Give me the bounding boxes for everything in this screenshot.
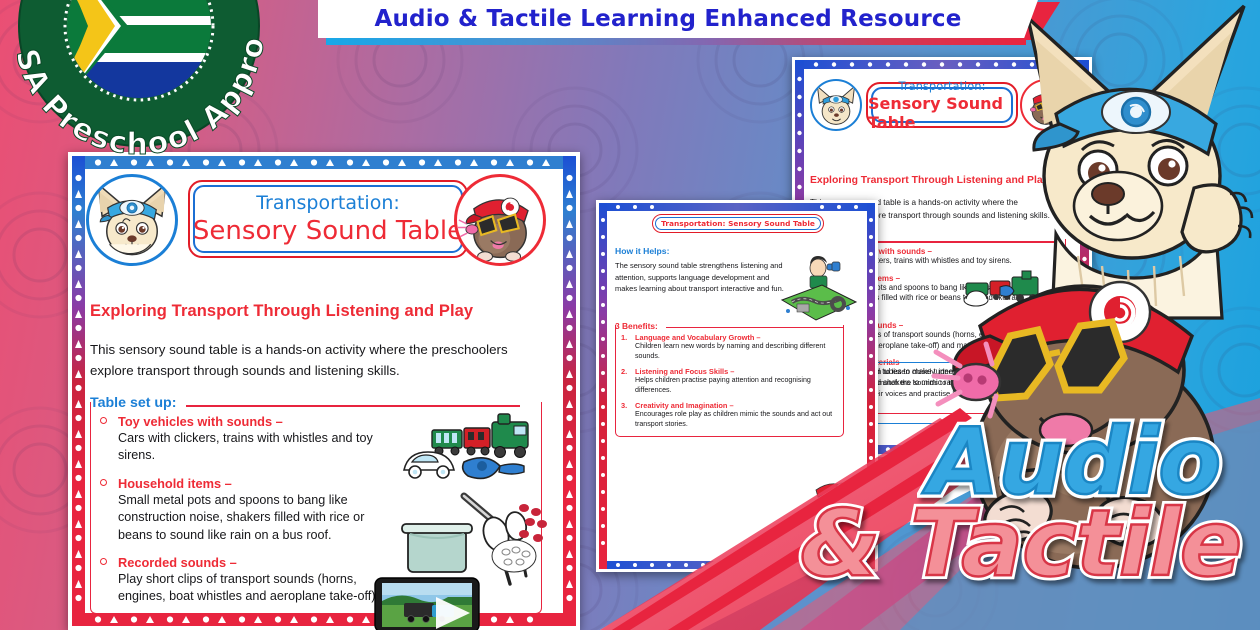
list-item-body: Helps children practise paying attention…	[635, 376, 843, 395]
list-item-body: Children learn new words by naming and d…	[635, 342, 843, 361]
list-item: 1. Language and Vocabulary Growth – Chil…	[621, 333, 843, 361]
bullet-icon	[100, 479, 107, 486]
list-item-body: Cars with clickers, trains with whistles…	[118, 430, 398, 465]
front-fox-avatar	[86, 174, 178, 266]
front-section-rule	[186, 405, 520, 407]
middle-help-text: The sensory sound table strengthens list…	[615, 260, 785, 295]
list-item: Household items – Small metal pots and s…	[98, 476, 398, 544]
front-title-line2: Sensory Sound Table	[193, 216, 463, 246]
back-fox-avatar	[810, 79, 862, 131]
toy-vehicles-illustration	[398, 414, 548, 492]
middle-benefits-rule	[666, 327, 844, 328]
list-item-number: 1.	[621, 333, 627, 342]
middle-heading-how-it-helps: How it Helps:	[615, 246, 669, 256]
list-item-body: Small metal pots and spoons to bang like…	[118, 492, 398, 544]
list-item-lead: Creativity and Imagination –	[635, 401, 843, 410]
list-item-lead: Household items –	[118, 476, 398, 491]
list-item-lead: Toy vehicles with sounds –	[118, 414, 398, 429]
list-item-number: 3.	[621, 401, 627, 410]
front-subtitle: Exploring Transport Through Listening an…	[90, 302, 473, 321]
bullet-icon	[100, 417, 107, 424]
household-items-illustration	[398, 490, 558, 590]
worksheet-page-middle[interactable]: Transportation: Sensory Sound Table How …	[596, 200, 878, 572]
middle-title-pill: Transportation: Sensory Sound Table	[652, 214, 824, 233]
list-item-lead: Language and Vocabulary Growth –	[635, 333, 843, 342]
middle-title: Transportation: Sensory Sound Table	[661, 219, 815, 228]
front-title-pill: Transportation: Sensory Sound Table	[188, 180, 468, 258]
front-section-heading: Table set up:	[90, 395, 176, 411]
back-title-pill: Transportation: Sensory Sound Table	[866, 82, 1018, 128]
mole-mascot	[934, 230, 1252, 560]
tablet-video-illustration	[374, 577, 480, 630]
sensory-sound-table-illustration	[776, 252, 858, 324]
list-item-body: Play short clips of transport sounds (ho…	[118, 571, 398, 606]
list-item-body: Encourages role play as children mimic t…	[635, 410, 843, 429]
header-banner: Audio & Tactile Learning Enhanced Resour…	[318, 0, 1018, 46]
list-item: 2. Listening and Focus Skills – Helps ch…	[621, 367, 843, 395]
front-intro-text: This sensory sound table is a hands-on a…	[90, 340, 510, 381]
header-gradient-underline	[326, 38, 1026, 45]
back-title-line1: Transportation:	[899, 79, 986, 93]
mole-illustration-middle	[804, 468, 866, 530]
middle-pill-text-wrap: Transportation: Sensory Sound Table	[653, 215, 823, 232]
bullet-icon	[100, 558, 107, 565]
back-title-line2: Sensory Sound Table	[868, 94, 1016, 132]
list-item-number: 2.	[621, 367, 627, 376]
middle-benefits-list: 1. Language and Vocabulary Growth – Chil…	[621, 333, 843, 435]
middle-page-label: Page 2 of 2	[706, 561, 730, 566]
front-setup-list: Toy vehicles with sounds – Cars with cli…	[98, 414, 398, 617]
list-item-lead: Recorded sounds –	[118, 555, 398, 570]
middle-heading-benefits: 3 Benefits:	[615, 321, 658, 331]
sa-preschool-approved-badge: SA Preschool Approved	[0, 0, 300, 136]
list-item: 3. Creativity and Imagination – Encourag…	[621, 401, 843, 429]
front-title-line1: Transportation:	[256, 192, 400, 214]
front-mole-avatar	[454, 174, 546, 266]
list-item-lead: Listening and Focus Skills –	[635, 367, 843, 376]
worksheet-page-front[interactable]: Transportation: Sensory Sound Table	[68, 152, 580, 630]
list-item: Recorded sounds – Play short clips of tr…	[98, 555, 398, 606]
list-item: Toy vehicles with sounds – Cars with cli…	[98, 414, 398, 465]
page-title: Audio & Tactile Learning Enhanced Resour…	[318, 0, 1018, 38]
